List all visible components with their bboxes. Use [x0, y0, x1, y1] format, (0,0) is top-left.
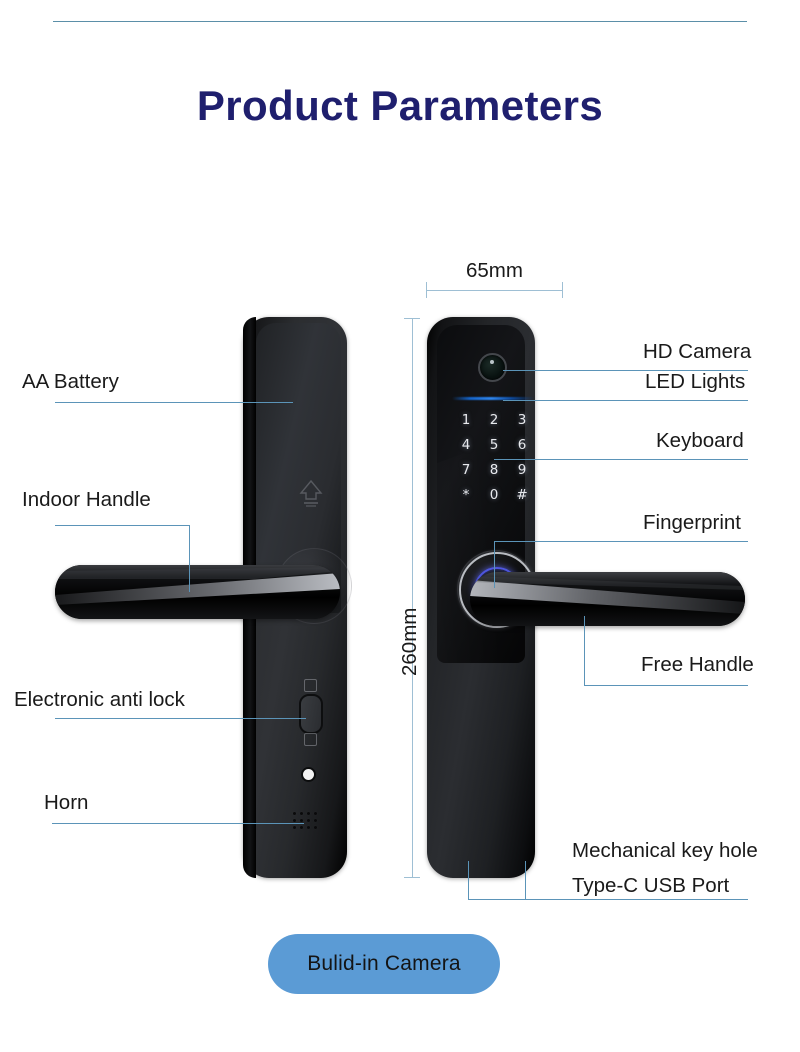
annotation-indoor-handle: Indoor Handle — [22, 490, 151, 511]
anti-lock-switch-icon[interactable] — [299, 694, 323, 734]
leader-indoor-handle-v — [189, 525, 190, 592]
free-handle-lever — [470, 572, 745, 626]
leader-mechanical-key-hole-v — [468, 861, 469, 900]
height-dimension-label: 260mm — [400, 608, 421, 676]
leader-aa-battery — [55, 402, 293, 403]
leader-horn — [52, 823, 304, 824]
height-dimension-line — [412, 318, 413, 878]
leader-bottom-ports-h — [468, 899, 748, 900]
width-dimension-line — [426, 290, 562, 291]
annotation-mechanical-key-hole: Mechanical key hole — [572, 841, 758, 862]
height-dimension-cap-top — [404, 318, 420, 319]
leader-type-c-usb-port-v — [525, 861, 526, 900]
height-dimension-cap-bottom — [404, 877, 420, 878]
leader-indoor-handle-h — [55, 525, 189, 526]
keypad-key-star[interactable]: * — [463, 489, 470, 503]
camera-icon — [478, 353, 507, 382]
leader-led-lights — [503, 400, 748, 401]
leader-fingerprint-h — [494, 541, 748, 542]
handle-gloss — [55, 565, 340, 619]
keypad-key-2[interactable]: 2 — [490, 414, 499, 428]
keypad-key-hash[interactable]: # — [516, 489, 527, 503]
leader-free-handle-h — [584, 685, 748, 686]
keypad-key-0[interactable]: 0 — [490, 489, 499, 503]
annotation-hd-camera: HD Camera — [643, 342, 751, 363]
push-arrow-icon — [296, 478, 326, 508]
indoor-handle-lever — [55, 565, 340, 619]
keypad-key-6[interactable]: 6 — [518, 439, 527, 453]
leader-free-handle-v — [584, 616, 585, 685]
annotation-fingerprint: Fingerprint — [643, 513, 741, 534]
unlocked-padlock-icon — [304, 733, 317, 746]
built-in-camera-badge-label: Bulid-in Camera — [307, 952, 461, 976]
camera-lens-glint — [490, 360, 494, 364]
keypad-key-5[interactable]: 5 — [490, 439, 499, 453]
annotation-free-handle: Free Handle — [641, 655, 754, 676]
leader-keyboard — [494, 459, 748, 460]
annotation-horn: Horn — [44, 793, 88, 814]
keypad-key-9[interactable]: 9 — [518, 464, 527, 478]
keypad[interactable]: 1 2 3 4 5 6 7 8 9 * 0 # — [452, 408, 536, 508]
annotation-type-c-usb-port: Type-C USB Port — [572, 876, 729, 897]
annotation-aa-battery: AA Battery — [22, 372, 119, 393]
product-parameters-page: Product Parameters 65mm 260mm — [0, 0, 800, 1052]
built-in-camera-badge[interactable]: Bulid-in Camera — [268, 934, 500, 994]
annotation-keyboard: Keyboard — [656, 431, 744, 452]
width-dimension-cap-right — [562, 282, 563, 298]
width-dimension-label: 65mm — [466, 261, 523, 282]
keypad-key-7[interactable]: 7 — [462, 464, 471, 478]
locked-padlock-icon — [304, 679, 317, 692]
reset-hole-icon — [303, 769, 314, 780]
leader-fingerprint-v — [494, 541, 495, 588]
page-title: Product Parameters — [0, 82, 800, 130]
header-divider — [53, 21, 747, 22]
handle-gloss — [470, 572, 745, 626]
keypad-key-1[interactable]: 1 — [462, 414, 471, 428]
annotation-electronic-anti-lock: Electronic anti lock — [14, 690, 185, 711]
leader-electronic-anti-lock — [55, 718, 306, 719]
keypad-key-4[interactable]: 4 — [462, 439, 471, 453]
keypad-key-3[interactable]: 3 — [518, 414, 527, 428]
width-dimension-cap-left — [426, 282, 427, 298]
keypad-key-8[interactable]: 8 — [490, 464, 499, 478]
annotation-led-lights: LED Lights — [645, 372, 745, 393]
